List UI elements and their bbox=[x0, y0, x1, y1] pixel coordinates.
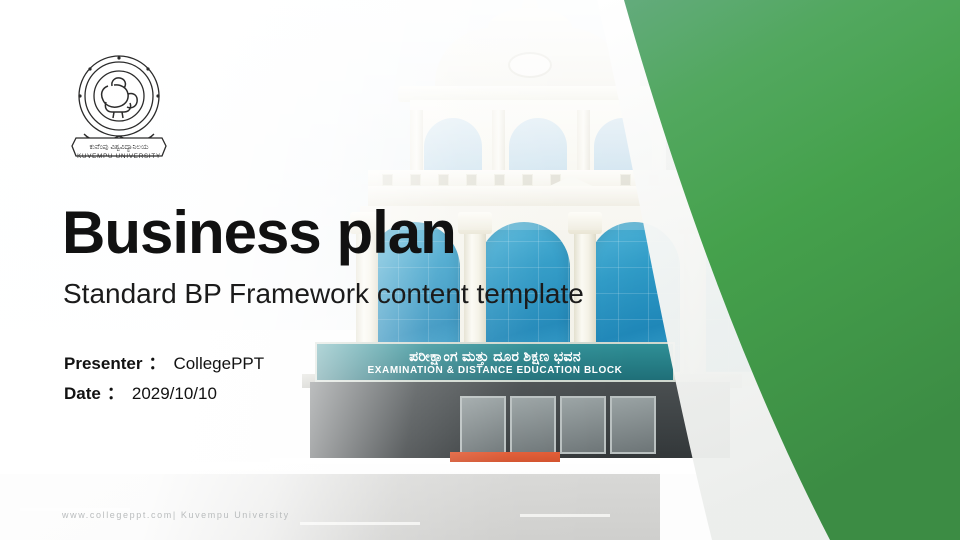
logo-banner-english: KUVEMPU UNIVERSITY bbox=[77, 153, 161, 160]
presentation-meta: Presenter ： CollegePPT Date ： 2029/10/10 bbox=[64, 355, 264, 402]
date-value: 2029/10/10 bbox=[132, 385, 217, 402]
date-separator: ： bbox=[107, 385, 124, 402]
slide-subtitle: Standard BP Framework content template bbox=[63, 280, 584, 308]
presenter-separator: ： bbox=[148, 355, 165, 372]
presentation-slide: ಪರೀಕ್ಷಾಂಗ ಮತ್ತು ದೂರ ಶಿಕ್ಷಣ ಭವನ EXAMINATI… bbox=[0, 0, 960, 540]
presenter-label: Presenter bbox=[64, 355, 142, 372]
slide-footer: www.collegeppt.com| Kuvempu University bbox=[62, 510, 290, 520]
slide-title: Business plan bbox=[62, 203, 456, 263]
university-logo-icon: ಕುವೆಂಪು ವಿಶ್ವವಿದ್ಯಾನಿಲಯ KUVEMPU UNIVERSI… bbox=[58, 42, 180, 168]
date-label: Date bbox=[64, 385, 101, 402]
presenter-value: CollegePPT bbox=[173, 355, 264, 372]
date-row: Date ： 2029/10/10 bbox=[64, 385, 264, 402]
presenter-row: Presenter ： CollegePPT bbox=[64, 355, 264, 372]
